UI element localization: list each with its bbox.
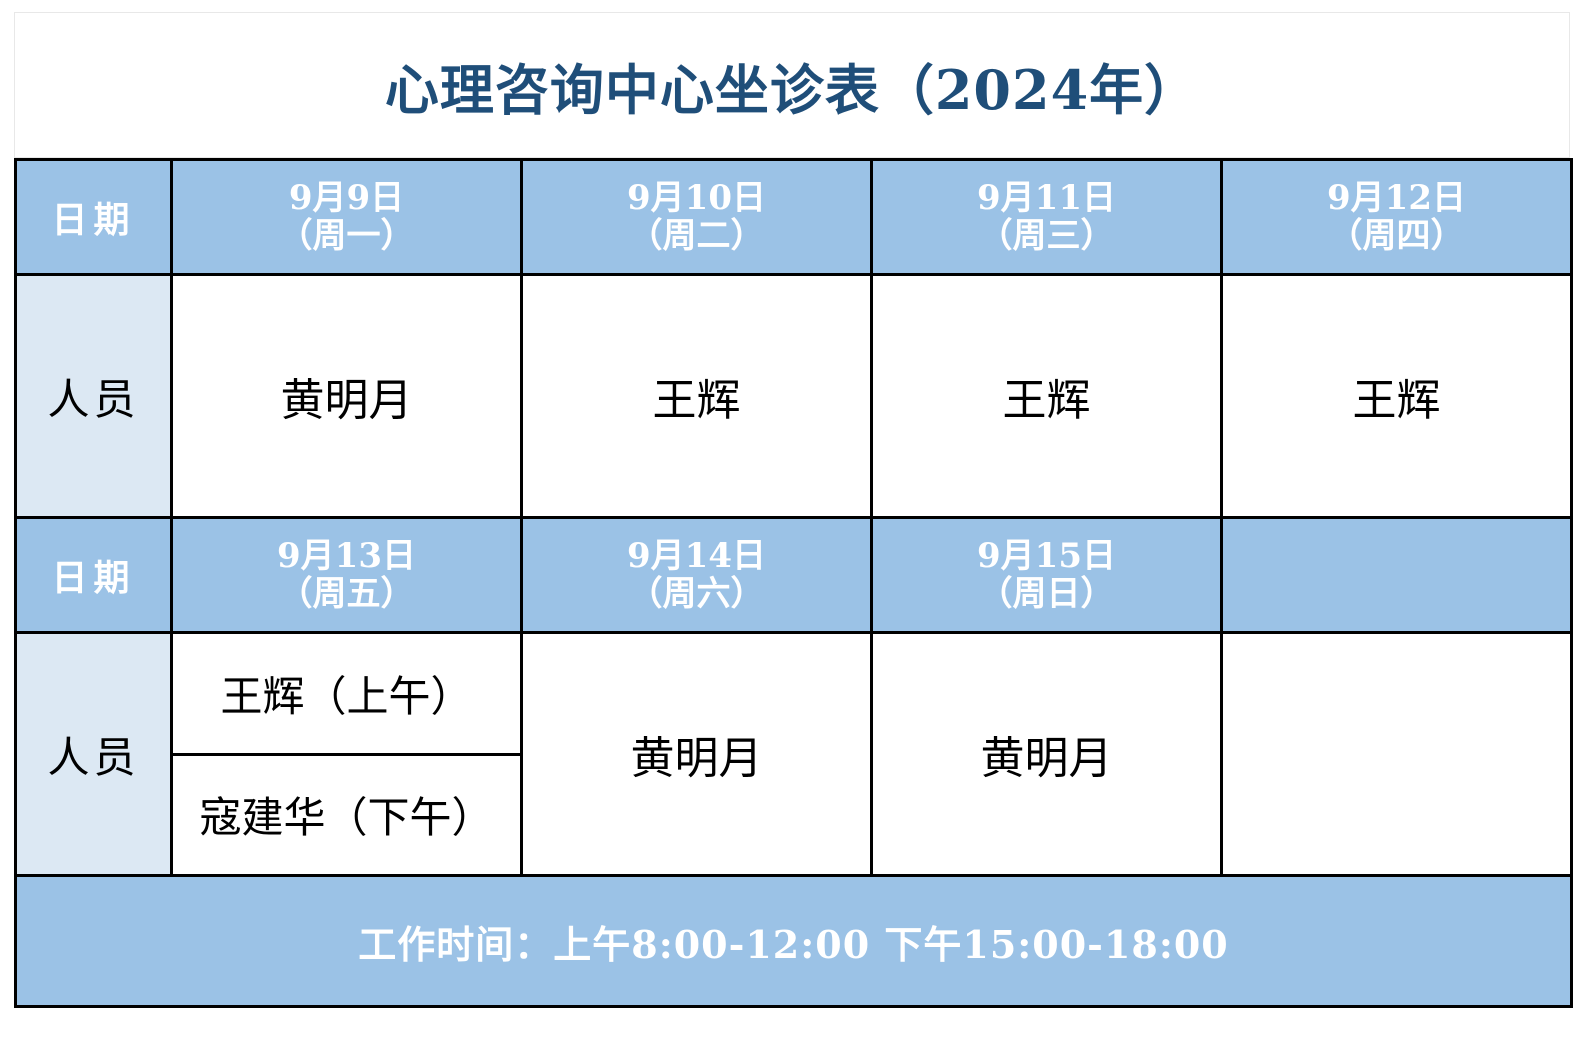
staff-name: 黄明月	[281, 375, 413, 426]
staff-name: 王辉	[653, 375, 741, 426]
weekday-text: （周四）	[1329, 217, 1465, 255]
date-text: 9月13日	[277, 537, 416, 575]
staff-name: 王辉	[1353, 375, 1441, 426]
row-label-date-week2: 日期	[16, 518, 172, 633]
title-band: 心理咨询中心坐诊表（2024年）	[14, 12, 1570, 158]
schedule-sheet: 心理咨询中心坐诊表（2024年） 日期 9月9日 （周一）	[0, 0, 1586, 1046]
schedule-table: 日期 9月9日 （周一） 9月10日 （周二） 9月11日	[14, 158, 1573, 1008]
working-hours-note: 工作时间：上午8:00-12:00 下午15:00-18:00	[16, 876, 1572, 1007]
staff-cell-week2-day3: 黄明月	[872, 633, 1222, 876]
date-text: 9月9日	[289, 179, 404, 217]
weekday-text: （周三）	[979, 217, 1115, 255]
date-text: 9月14日	[627, 537, 766, 575]
staff-name: 黄明月	[631, 733, 763, 784]
table-row-week2-staff: 人员 王辉（上午） 寇建华（下午） 黄明月 黄明月	[16, 633, 1572, 876]
weekday-text: （周六）	[629, 575, 765, 613]
weekday-text: （周日）	[979, 575, 1115, 613]
weekday-text: （周二）	[629, 217, 765, 255]
staff-cell-week1-day3: 王辉	[872, 275, 1222, 518]
date-text: 9月10日	[627, 179, 766, 217]
date-cell-week2-day1: 9月13日 （周五）	[172, 518, 522, 633]
date-cell-week2-day3: 9月15日 （周日）	[872, 518, 1222, 633]
weekday-text: （周五）	[279, 575, 415, 613]
staff-cell-week2-day2: 黄明月	[522, 633, 872, 876]
date-cell-week1-day4: 9月12日 （周四）	[1222, 160, 1572, 275]
staff-name: 黄明月	[981, 733, 1113, 784]
date-text: 9月11日	[977, 179, 1116, 217]
staff-cell-week1-day4: 王辉	[1222, 275, 1572, 518]
date-cell-week2-day4-empty	[1222, 518, 1572, 633]
date-cell-week1-day1: 9月9日 （周一）	[172, 160, 522, 275]
staff-cell-week1-day1: 黄明月	[172, 275, 522, 518]
row-label-staff-week1: 人员	[16, 275, 172, 518]
staff-cell-week2-day1-split: 王辉（上午） 寇建华（下午）	[172, 633, 522, 876]
staff-cell-week2-day4-empty	[1222, 633, 1572, 876]
row-label-date-week1: 日期	[16, 160, 172, 275]
staff-cell-week1-day2: 王辉	[522, 275, 872, 518]
date-text: 9月12日	[1327, 179, 1466, 217]
table-row-footer: 工作时间：上午8:00-12:00 下午15:00-18:00	[16, 876, 1572, 1007]
date-cell-week1-day3: 9月11日 （周三）	[872, 160, 1222, 275]
date-text: 9月15日	[977, 537, 1116, 575]
table-row-week1-staff: 人员 黄明月 王辉 王辉 王辉	[16, 275, 1572, 518]
staff-name-afternoon: 寇建华（下午）	[173, 756, 520, 875]
table-row-week2-dates: 日期 9月13日 （周五） 9月14日 （周六） 9月15日	[16, 518, 1572, 633]
staff-name: 王辉	[1003, 375, 1091, 426]
table-row-week1-dates: 日期 9月9日 （周一） 9月10日 （周二） 9月11日	[16, 160, 1572, 275]
date-cell-week1-day2: 9月10日 （周二）	[522, 160, 872, 275]
date-cell-week2-day2: 9月14日 （周六）	[522, 518, 872, 633]
page-title: 心理咨询中心坐诊表（2024年）	[385, 46, 1199, 125]
row-label-staff-week2: 人员	[16, 633, 172, 876]
weekday-text: （周一）	[279, 217, 415, 255]
staff-name-morning: 王辉（上午）	[173, 634, 520, 756]
